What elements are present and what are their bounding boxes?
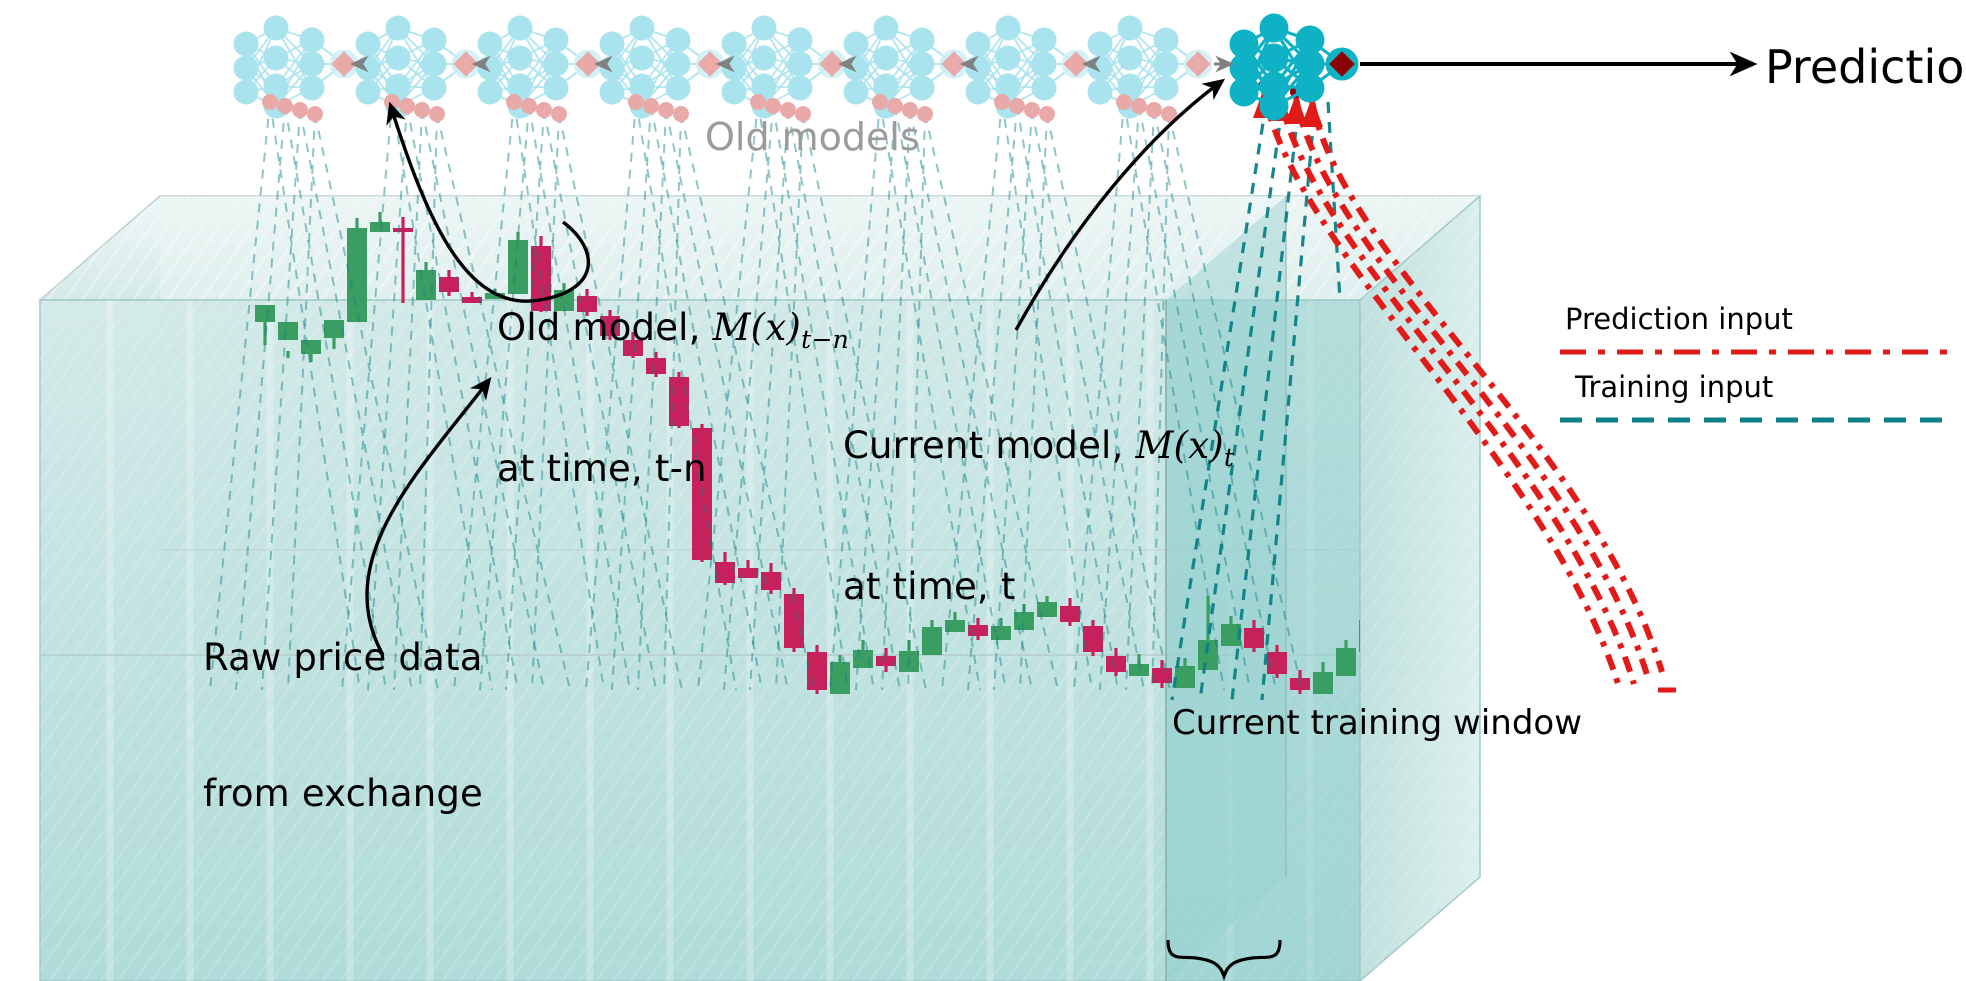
annotation-current-model: Current model, M(x)t at time, t <box>843 333 1234 700</box>
annotation-current-model-text: Current model, <box>843 424 1135 467</box>
annotation-old-model-subscript: t−n <box>801 325 849 354</box>
figure-root: B FreqAI <box>0 0 1966 981</box>
annotation-raw-price-line2: from exchange <box>203 771 483 816</box>
annotation-old-model-text: Old model, <box>497 306 713 349</box>
current-training-window-label: Current training window <box>1172 703 1582 743</box>
annotation-current-model-subscript: t <box>1224 443 1234 472</box>
old-models-label: Old models <box>705 115 920 159</box>
legend-label-training-input: Training input <box>1575 370 1773 404</box>
annotation-old-model: Old model, M(x)t−n at time, t-n <box>497 215 849 582</box>
annotation-current-model-math: M(x) <box>1135 424 1223 467</box>
annotation-raw-price-line1: Raw price data <box>203 635 483 680</box>
legend-label-prediction-input: Prediction input <box>1565 302 1793 336</box>
annotation-raw-price-data: Raw price data from exchange <box>203 545 483 906</box>
annotation-old-model-math: M(x) <box>713 306 801 349</box>
annotation-current-model-line2: at time, t <box>843 564 1234 609</box>
annotation-old-model-line2: at time, t-n <box>497 446 849 491</box>
prediction-label: Prediction <box>1765 40 1966 94</box>
